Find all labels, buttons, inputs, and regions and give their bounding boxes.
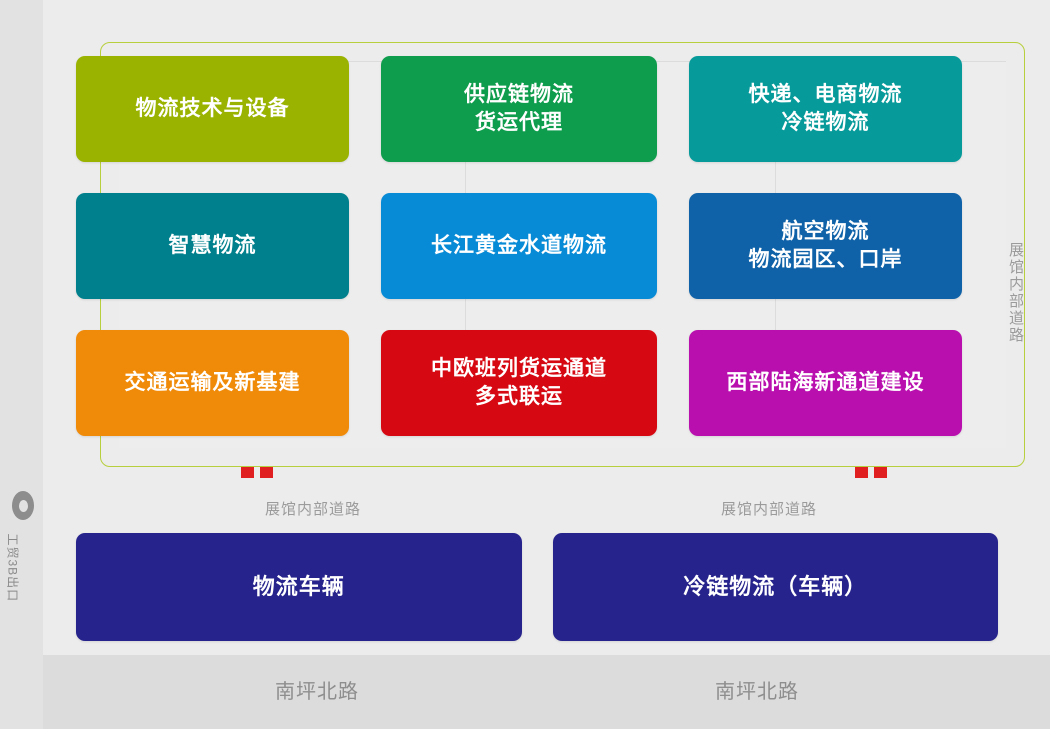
arrow-down-icon xyxy=(241,452,254,476)
zone-block-7[interactable]: 中欧班列货运通道 多式联运 xyxy=(381,330,657,436)
zone-grid: 物流技术与设备 供应链物流 货运代理 快递、电商物流 冷链物流 智慧物流 长江黄… xyxy=(76,56,966,452)
arrow-down-icon xyxy=(260,452,273,476)
arrow-up-icon xyxy=(874,452,887,476)
vehicle-block-0[interactable]: 物流车辆 xyxy=(76,533,522,641)
left-sidebar-strip: 工贸3B出口 xyxy=(0,0,44,729)
main-canvas: 南坪北路 南坪北路 物流技术与设备 供应链物流 货运代理 快递、电商物流 冷链物… xyxy=(43,0,1050,729)
inner-road-label-left: 展馆内部道路 xyxy=(265,498,361,519)
road-label-nanping-right: 南坪北路 xyxy=(715,675,799,704)
exit-marker[interactable] xyxy=(12,491,34,520)
vehicle-zone-row: 物流车辆 冷链物流（车辆） xyxy=(76,533,998,641)
inner-road-label-right: 展馆内部道路 xyxy=(721,498,817,519)
vehicle-block-1[interactable]: 冷链物流（车辆） xyxy=(553,533,999,641)
arrow-up-icon xyxy=(855,452,868,476)
zone-block-5[interactable]: 航空物流 物流园区、口岸 xyxy=(689,193,962,299)
zone-block-2[interactable]: 快递、电商物流 冷链物流 xyxy=(689,56,962,162)
zone-block-0[interactable]: 物流技术与设备 xyxy=(76,56,349,162)
bottom-road-band: 南坪北路 南坪北路 xyxy=(43,655,1050,729)
zone-block-4[interactable]: 长江黄金水道物流 xyxy=(381,193,657,299)
zone-block-1[interactable]: 供应链物流 货运代理 xyxy=(381,56,657,162)
zone-block-8[interactable]: 西部陆海新通道建设 xyxy=(689,330,962,436)
floorplan-canvas: 工贸3B出口 南坪北路 南坪北路 物流技术与设备 供应链物流 货运代理 快递、电… xyxy=(0,0,1050,729)
inner-road-label-vertical: 展馆内部道路 xyxy=(1006,242,1026,344)
zone-block-3[interactable]: 智慧物流 xyxy=(76,193,349,299)
road-label-nanping-left: 南坪北路 xyxy=(275,675,359,704)
exit-label: 工贸3B出口 xyxy=(5,534,22,596)
ring-exit-icon xyxy=(12,491,34,520)
zone-block-6[interactable]: 交通运输及新基建 xyxy=(76,330,349,436)
